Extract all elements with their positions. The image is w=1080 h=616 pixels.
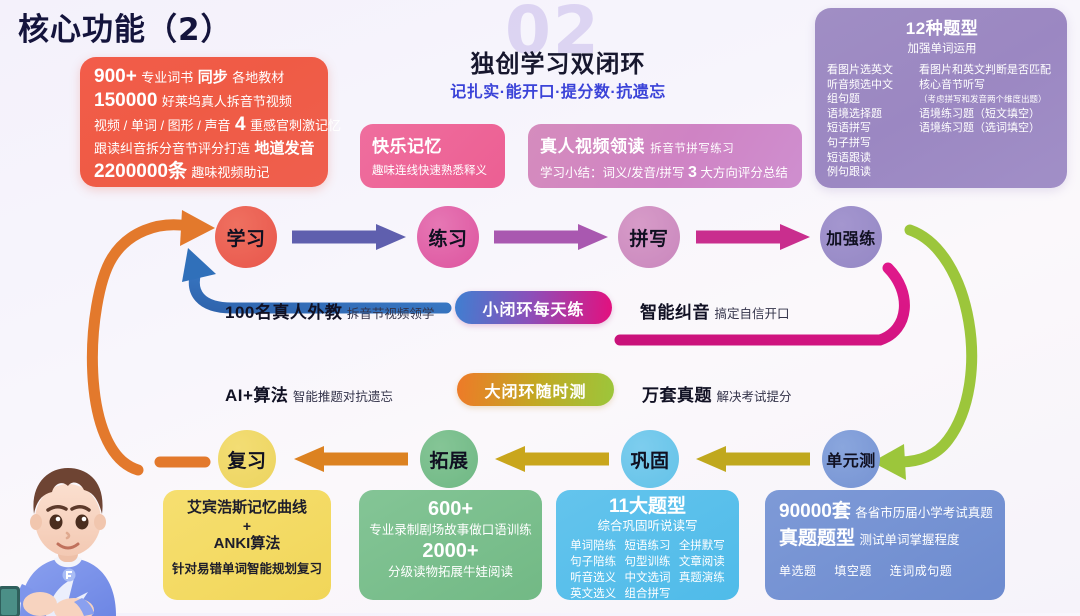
- real-exam-title-sub: 测试单词掌握程度: [859, 533, 959, 547]
- blue-card-item: 英文选义: [566, 586, 620, 602]
- happy-memory-card: 快乐记忆 趣味连线快速熟悉释义: [360, 124, 505, 188]
- memory-curve-card: 艾宾浩斯记忆曲线 + ANKI算法 针对易错单词智能规划复习: [163, 490, 331, 600]
- blue-card-item: 组合拼写: [620, 586, 674, 602]
- reading-sub-1: 专业录制剧场故事做口语训练: [359, 521, 542, 539]
- label-exam-bank: 万套真题 解决考试提分: [642, 381, 791, 406]
- happy-memory-title: 快乐记忆: [372, 132, 505, 157]
- memory-curve-line1: 艾宾浩斯记忆曲线: [163, 498, 331, 518]
- flow-node-expand[interactable]: 拓展: [420, 430, 478, 488]
- real-exam-tag: 连词成句题: [890, 564, 953, 578]
- red-card-line-5: 2200000条 趣味视频助记: [94, 160, 318, 184]
- live-video-sub-post: 大方向评分总结: [700, 166, 788, 180]
- arrow-unittest-to-consolidate: [696, 446, 810, 472]
- mascot-hand-left: [23, 592, 57, 616]
- red-line3-tail: 重感官刺激记忆: [250, 118, 341, 133]
- question-type-item: 语境练习题（短文填空）: [919, 107, 1057, 122]
- mascot-ear-left: [30, 514, 42, 530]
- red-line1-b: 同步: [198, 69, 228, 86]
- memory-curve-line2: ANKI算法: [163, 534, 331, 554]
- reading-training-card: 600+ 专业录制剧场故事做口语训练 2000+ 分级读物拓展牛娃阅读: [359, 490, 542, 600]
- blue-loop-arrowhead: [182, 248, 216, 282]
- question-type-item: 看图片选英文: [827, 63, 919, 78]
- orange-loop-arrow: [92, 225, 188, 470]
- question-types-subheading: 加强单词运用: [827, 40, 1057, 56]
- question-type-item: 句子拼写: [827, 136, 919, 151]
- real-exam-num-sub: 各省市历届小学考试真题: [855, 506, 993, 520]
- badge-big-loop[interactable]: 大闭环随时测: [457, 373, 614, 406]
- question-type-item: 核心音节听写: [919, 78, 1057, 93]
- question-type-item: 语境练习题（选词填空）: [919, 121, 1057, 136]
- question-types-column-1: 看图片选英文 听音频选中文 组句题 语境选择题 短语拼写 句子拼写 短语跟读 例…: [827, 63, 919, 180]
- red-line5-text: 趣味视频助记: [191, 165, 269, 180]
- arrow-expand-to-review: [294, 446, 408, 472]
- blue-card-item: 文章阅读: [675, 554, 729, 570]
- question-type-item: 短语拼写: [827, 121, 919, 136]
- question-types-columns: 看图片选英文 听音频选中文 组句题 语境选择题 短语拼写 句子拼写 短语跟读 例…: [827, 63, 1057, 180]
- red-line5-number: 2200000条: [94, 161, 187, 182]
- question-type-item: 例句跟读: [827, 165, 919, 180]
- mascot-ear-right: [94, 514, 106, 530]
- label-ai-strong: AI+算法: [225, 386, 288, 405]
- infographic-canvas: 核心功能（2） 02 独创学习双闭环 记扎实·能开口·提分数·抗遗忘 900+ …: [0, 0, 1080, 613]
- question-type-item: 语境选择题: [827, 107, 919, 122]
- center-subheading: 记扎实·能开口·提分数·抗遗忘: [408, 78, 708, 102]
- blue-card-item: 听音选义: [566, 570, 620, 586]
- red-line1-a: 专业词书: [141, 70, 193, 85]
- page-title: 核心功能（2）: [18, 4, 233, 49]
- real-exam-num: 90000套: [779, 501, 851, 522]
- question-type-item: 看图片和英文判断是否匹配: [919, 63, 1057, 78]
- real-exam-card: 90000套 各省市历届小学考试真题 真题题型 测试单词掌握程度 单选题 填空题…: [765, 490, 1005, 600]
- green-loop-arrow: [900, 230, 972, 462]
- mascot-eye-left: [50, 515, 63, 530]
- live-video-sub-num: 3: [688, 164, 697, 181]
- question-type-item: 组句题: [827, 92, 919, 107]
- live-video-title-row: 真人视频领读 拆音节拼写练习: [540, 132, 802, 157]
- flow-node-review[interactable]: 复习: [218, 430, 276, 488]
- red-line2-number: 150000: [94, 90, 157, 111]
- red-line1-c: 各地教材: [232, 70, 284, 85]
- red-card-line-4: 跟读纠音拆分音节评分打造 地道发音: [94, 137, 318, 160]
- flow-node-spell[interactable]: 拼写: [618, 206, 680, 268]
- real-exam-tags: 单选题 填空题 连词成句题: [779, 562, 1005, 579]
- question-type-item: 短语跟读: [827, 151, 919, 166]
- label-ai-algorithm: AI+算法 智能推题对抗遗忘: [225, 381, 393, 406]
- arrow-learn-to-practice: [292, 224, 406, 250]
- label-correct-strong: 智能纠音: [640, 303, 710, 322]
- mascot-phone-screen: [1, 589, 17, 615]
- blue-card-item: 句子陪练: [566, 554, 620, 570]
- mascot-eye-highlight-right: [82, 517, 87, 522]
- live-video-title-note: 拆音节拼写练习: [650, 143, 734, 155]
- red-line4-strong: 地道发音: [254, 140, 314, 157]
- blue-card-item: 短语练习: [620, 538, 674, 554]
- red-stats-card: 900+ 专业词书 同步 各地教材 150000 好莱坞真人拆音节视频 视频 /…: [80, 57, 328, 187]
- reading-sub-2: 分级读物拓展牛娃阅读: [359, 563, 542, 581]
- live-video-sub-pre: 学习小结：词义/发音/拼写: [540, 166, 684, 180]
- question-type-item: 听音频选中文: [827, 78, 919, 93]
- center-heading: 独创学习双闭环: [428, 44, 688, 79]
- label-ai-sub: 智能推题对抗遗忘: [293, 390, 393, 404]
- red-line3-number: 4: [235, 114, 246, 135]
- label-exams-sub: 解决考试提分: [716, 390, 791, 404]
- badge-small-loop[interactable]: 小闭环每天练: [455, 291, 612, 324]
- mascot-eye-highlight-left: [56, 517, 61, 522]
- red-card-line-3: 视频 / 单词 / 图形 / 声音 4 重感官刺激记忆: [94, 113, 318, 137]
- blue-card-item: 真题演练: [675, 570, 729, 586]
- blue-card-title: 11大题型: [556, 496, 739, 518]
- red-line4-text: 跟读纠音拆分音节评分打造: [94, 141, 250, 156]
- red-card-line-2: 150000 好莱坞真人拆音节视频: [94, 89, 318, 113]
- arrow-practice-to-spell: [494, 224, 608, 250]
- red-line3-text: 视频 / 单词 / 图形 / 声音: [94, 118, 231, 133]
- real-exam-tag: 填空题: [834, 564, 872, 578]
- real-exam-tag: 单选题: [779, 564, 817, 578]
- mascot-illustration: [0, 458, 146, 616]
- memory-curve-plus: +: [163, 518, 331, 534]
- red-card-line-1: 900+ 专业词书 同步 各地教材: [94, 65, 318, 89]
- blue-card-items: 单词陪练 短语练习 全拼默写 句子陪练 句型训练 文章阅读 听音选义 中文选词 …: [556, 535, 739, 602]
- memory-curve-line3: 针对易错单词智能规划复习: [163, 558, 331, 577]
- orange-loop-arrowhead: [180, 210, 215, 246]
- question-types-card: 12种题型 加强单词运用 看图片选英文 听音频选中文 组句题 语境选择题 短语拼…: [815, 8, 1067, 188]
- label-correct-sub: 搞定自信开口: [714, 307, 789, 321]
- question-types-heading: 12种题型: [827, 14, 1057, 39]
- real-exam-row-2: 真题题型 测试单词掌握程度: [779, 526, 1005, 553]
- flow-node-unit-test[interactable]: 单元测: [822, 430, 880, 488]
- question-types-column-2: 看图片和英文判断是否匹配 核心音节听写 （考虑拼写和发音两个维度出题） 语境练习…: [919, 63, 1057, 180]
- blue-card-item: 单词陪练: [566, 538, 620, 554]
- label-foreign-strong: 100名真人外教: [225, 303, 342, 322]
- real-exam-title: 真题题型: [779, 528, 855, 549]
- blue-card-sub: 综合巩固听说读写: [556, 518, 739, 535]
- arrow-consolidate-to-expand: [495, 446, 609, 472]
- flow-node-practice[interactable]: 练习: [417, 206, 479, 268]
- label-foreign-teachers: 100名真人外教 拆音节视频领学: [225, 298, 434, 323]
- flow-node-strengthen[interactable]: 加强练: [820, 206, 882, 268]
- red-line2-text: 好莱坞真人拆音节视频: [162, 94, 292, 109]
- live-video-reading-card: 真人视频领读 拆音节拼写练习 学习小结：词义/发音/拼写 3 大方向评分总结: [528, 124, 802, 188]
- real-exam-row-1: 90000套 各省市历届小学考试真题: [779, 499, 1005, 526]
- label-smart-pronunciation: 智能纠音 搞定自信开口: [640, 298, 789, 323]
- label-exams-strong: 万套真题: [642, 386, 712, 405]
- blue-card-item: 句型训练: [620, 554, 674, 570]
- blue-card-item: 中文选词: [620, 570, 674, 586]
- red-line1-number: 900+: [94, 66, 137, 87]
- flow-node-learn[interactable]: 学习: [215, 206, 277, 268]
- flow-node-consolidate[interactable]: 巩固: [621, 430, 679, 488]
- happy-memory-sub: 趣味连线快速熟悉释义: [372, 162, 505, 178]
- live-video-title: 真人视频领读: [540, 137, 645, 156]
- label-foreign-sub: 拆音节视频领学: [347, 307, 435, 321]
- mascot-eye-right: [76, 515, 89, 530]
- reading-num-2: 2000+: [359, 539, 542, 563]
- question-types-note: （考虑拼写和发音两个维度出题）: [919, 92, 1057, 107]
- eleven-question-types-card: 11大题型 综合巩固听说读写 单词陪练 短语练习 全拼默写 句子陪练 句型训练 …: [556, 490, 739, 600]
- arrow-spell-to-strengthen: [696, 224, 810, 250]
- reading-num-1: 600+: [359, 497, 542, 521]
- live-video-sub-row: 学习小结：词义/发音/拼写 3 大方向评分总结: [540, 162, 802, 182]
- blue-card-item: 全拼默写: [675, 538, 729, 554]
